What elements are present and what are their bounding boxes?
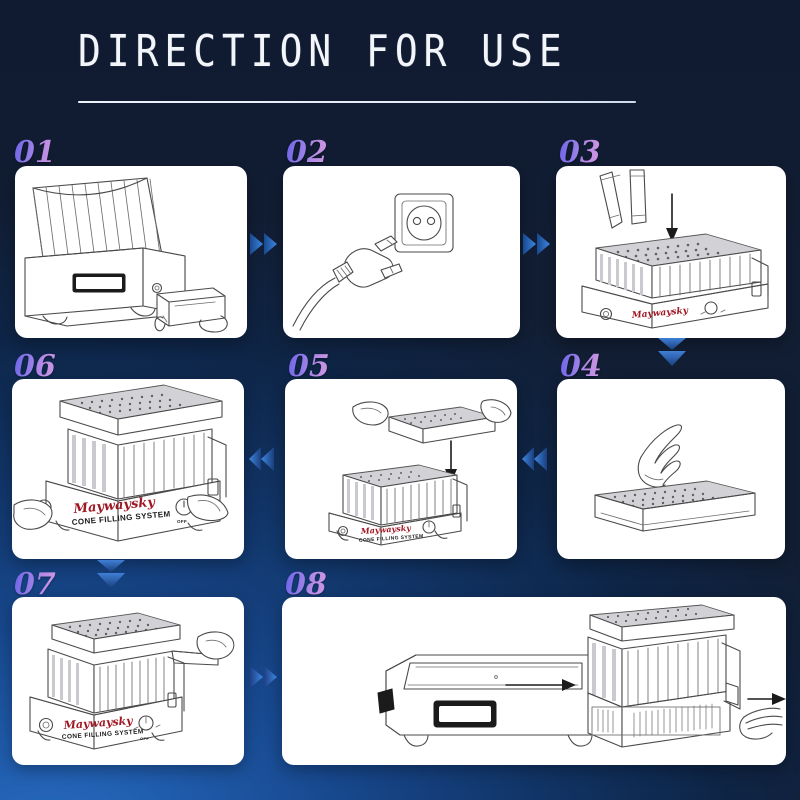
- illustration-lift-lid: Maywaysky CONE FILLING SYSTEM: [285, 379, 517, 559]
- arrow-07-to-08: [250, 663, 282, 691]
- arrow-01-to-02: [250, 230, 282, 258]
- arrow-06-to-07: [94, 558, 128, 592]
- step-panel-03: Maywaysky: [556, 166, 786, 338]
- step-panel-02: [283, 166, 520, 338]
- step-panel-06: Maywaysky CONE FILLING SYSTEM OFF: [12, 379, 244, 559]
- arrow-02-to-03: [523, 230, 555, 258]
- step-number-01: 01: [14, 138, 56, 168]
- illustration-plug-and-socket: [283, 166, 520, 338]
- poster-root: DIRECTION FOR USE 01: [0, 0, 800, 800]
- step-panel-01: [15, 166, 247, 338]
- step-number-03: 03: [559, 138, 601, 168]
- step-panel-05: Maywaysky CONE FILLING SYSTEM: [285, 379, 517, 559]
- illustration-remove-tray: Maywaysky CONE FILLING SYSTEM OFF: [12, 597, 244, 765]
- step-number-08: 08: [285, 570, 327, 600]
- knob-label-07: OFF: [140, 736, 149, 741]
- knob-label-06: OFF: [177, 519, 187, 524]
- step-panel-07: Maywaysky CONE FILLING SYSTEM OFF: [12, 597, 244, 765]
- step-panel-08: [282, 597, 786, 765]
- step-number-05: 05: [288, 352, 330, 382]
- illustration-slide-tray-out: [282, 597, 786, 765]
- step-number-06: 06: [14, 352, 56, 382]
- arrow-05-to-06: [248, 444, 278, 474]
- page-title: DIRECTION FOR USE: [78, 26, 568, 78]
- step-number-07: 07: [14, 570, 56, 600]
- step-number-04: 04: [560, 352, 602, 382]
- arrow-04-to-05: [521, 444, 551, 474]
- step-panel-04: [557, 379, 785, 559]
- illustration-press-tray: [557, 379, 785, 559]
- illustration-insert-cones: Maywaysky: [556, 166, 786, 338]
- step-number-02: 02: [286, 138, 328, 168]
- illustration-machine-with-adapter: [15, 166, 247, 338]
- illustration-turn-knob: Maywaysky CONE FILLING SYSTEM OFF: [12, 379, 244, 559]
- title-divider: [78, 101, 636, 103]
- arrow-03-to-04: [655, 336, 689, 370]
